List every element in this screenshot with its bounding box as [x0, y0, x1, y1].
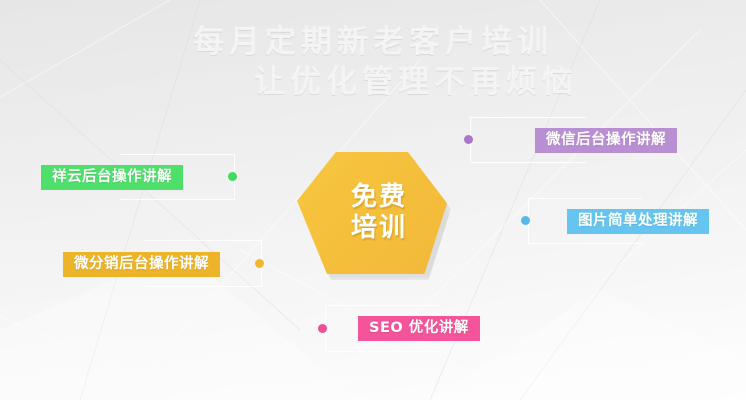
- topic-label-xiangyun[interactable]: 祥云后台操作讲解: [41, 165, 183, 190]
- connector-dot-xiangyun: [228, 172, 237, 181]
- hexagon-line-2: 培训: [351, 213, 407, 244]
- topic-label-tupian[interactable]: 图片简单处理讲解: [567, 209, 709, 234]
- title-line-1: 每月定期新老客户培训: [0, 22, 746, 62]
- connector-dot-weifenxiao: [255, 259, 264, 268]
- connector-dot-weixin: [464, 135, 473, 144]
- promo-banner: 每月定期新老客户培训 让优化管理不再烦恼 祥云后台操作讲解 微分销后台操作讲解 …: [0, 0, 746, 400]
- topic-label-weifenxiao[interactable]: 微分销后台操作讲解: [63, 252, 220, 277]
- banner-title: 每月定期新老客户培训 让优化管理不再烦恼: [0, 22, 746, 102]
- hexagon-text: 免费 培训: [297, 152, 447, 274]
- topic-label-weixin[interactable]: 微信后台操作讲解: [535, 128, 677, 153]
- title-line-2: 让优化管理不再烦恼: [0, 62, 746, 102]
- center-hexagon[interactable]: 免费 培训: [297, 152, 447, 274]
- topic-label-seo[interactable]: SEO 优化讲解: [358, 316, 480, 341]
- hexagon-line-1: 免费: [351, 182, 407, 213]
- connector-dot-tupian: [521, 216, 530, 225]
- connector-dot-seo: [318, 324, 327, 333]
